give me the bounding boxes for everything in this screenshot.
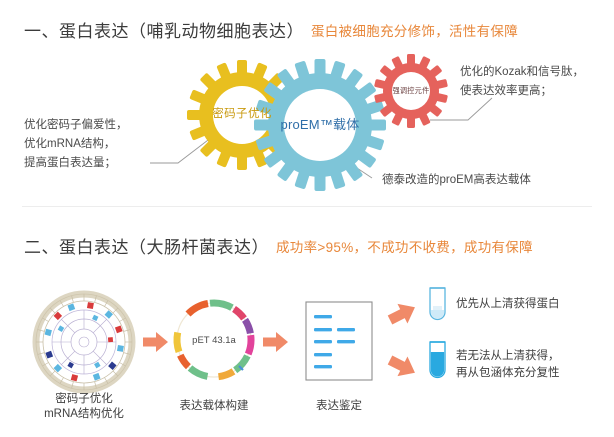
annotation-left-codon: 优化密码子偏爱性， 优化mRNA结构， 提高蛋白表达量； [24, 116, 128, 173]
section-heading-ecoli: 二、蛋白表达（大肠杆菌表达）成功率>95%，不成功不收费，成功有保障 [24, 233, 533, 258]
gear-element-label: 强调控元件 [383, 63, 439, 119]
section-number: 二、 [24, 238, 59, 257]
test-tube-icon-inclusion [430, 342, 445, 378]
workflow-arrow-branch-down [385, 350, 420, 382]
test-tube-icon-supernatant [430, 288, 445, 320]
section-divider [22, 206, 592, 207]
workflow-arrow-branch-up [385, 297, 420, 329]
annotation-right-kozak: 优化的Kozak和信号肽， 使表达效率更高； [460, 63, 584, 101]
caption-expression-identification: 表达鉴定 [285, 399, 393, 414]
outcome-line: 再从包涵体充分复性 [456, 365, 560, 382]
annotation-line: 德泰改造的proEM高表达载体 [382, 171, 531, 190]
workflow-arrow-2 [263, 332, 288, 352]
caption-line: mRNA结构优化 [14, 407, 154, 422]
codon-wheel-icon [36, 294, 132, 390]
annotation-line: 优化密码子偏爱性， [24, 116, 128, 135]
caption-vector-construction: 表达载体构建 [154, 399, 274, 414]
caption-codon-optimization: 密码子优化 mRNA结构优化 [14, 392, 154, 422]
annotation-line: 提高蛋白表达量； [24, 154, 128, 173]
caption-line: 表达鉴定 [285, 399, 393, 414]
outcome-line: 若无法从上清获得， [456, 348, 560, 365]
gear-proem-label-wrap: proEM™载体 [268, 73, 372, 177]
workflow-arrow-1 [143, 332, 168, 352]
section-title: 蛋白表达（大肠杆菌表达） [59, 238, 269, 257]
plasmid-map-icon: pET 43.1a [177, 303, 251, 377]
outcome-supernatant-text: 优先从上清获得蛋白 [456, 296, 560, 313]
plasmid-name: pET 43.1a [192, 335, 236, 346]
slide-canvas: 一、蛋白表达（哺乳动物细胞表达）蛋白被细胞充分修饰，活性有保障 [0, 0, 614, 437]
annotation-line: 优化mRNA结构， [24, 135, 128, 154]
annotation-line: 使表达效率更高； [460, 82, 584, 101]
section-highlight: 成功率>95%，不成功不收费，成功有保障 [276, 240, 533, 255]
caption-line: 表达载体构建 [154, 399, 274, 414]
outcome-inclusion-text: 若无法从上清获得， 再从包涵体充分复性 [456, 348, 560, 382]
annotation-line: 优化的Kozak和信号肽， [460, 63, 584, 82]
caption-line: 密码子优化 [14, 392, 154, 407]
gear-proem-label: proEM™载体 [268, 73, 372, 177]
outcome-line: 优先从上清获得蛋白 [456, 296, 560, 313]
annotation-bottom-vector: 德泰改造的proEM高表达载体 [382, 171, 531, 190]
gel-blot-icon [306, 302, 372, 380]
gear-element-label-wrap: 强调控元件 [383, 63, 439, 119]
